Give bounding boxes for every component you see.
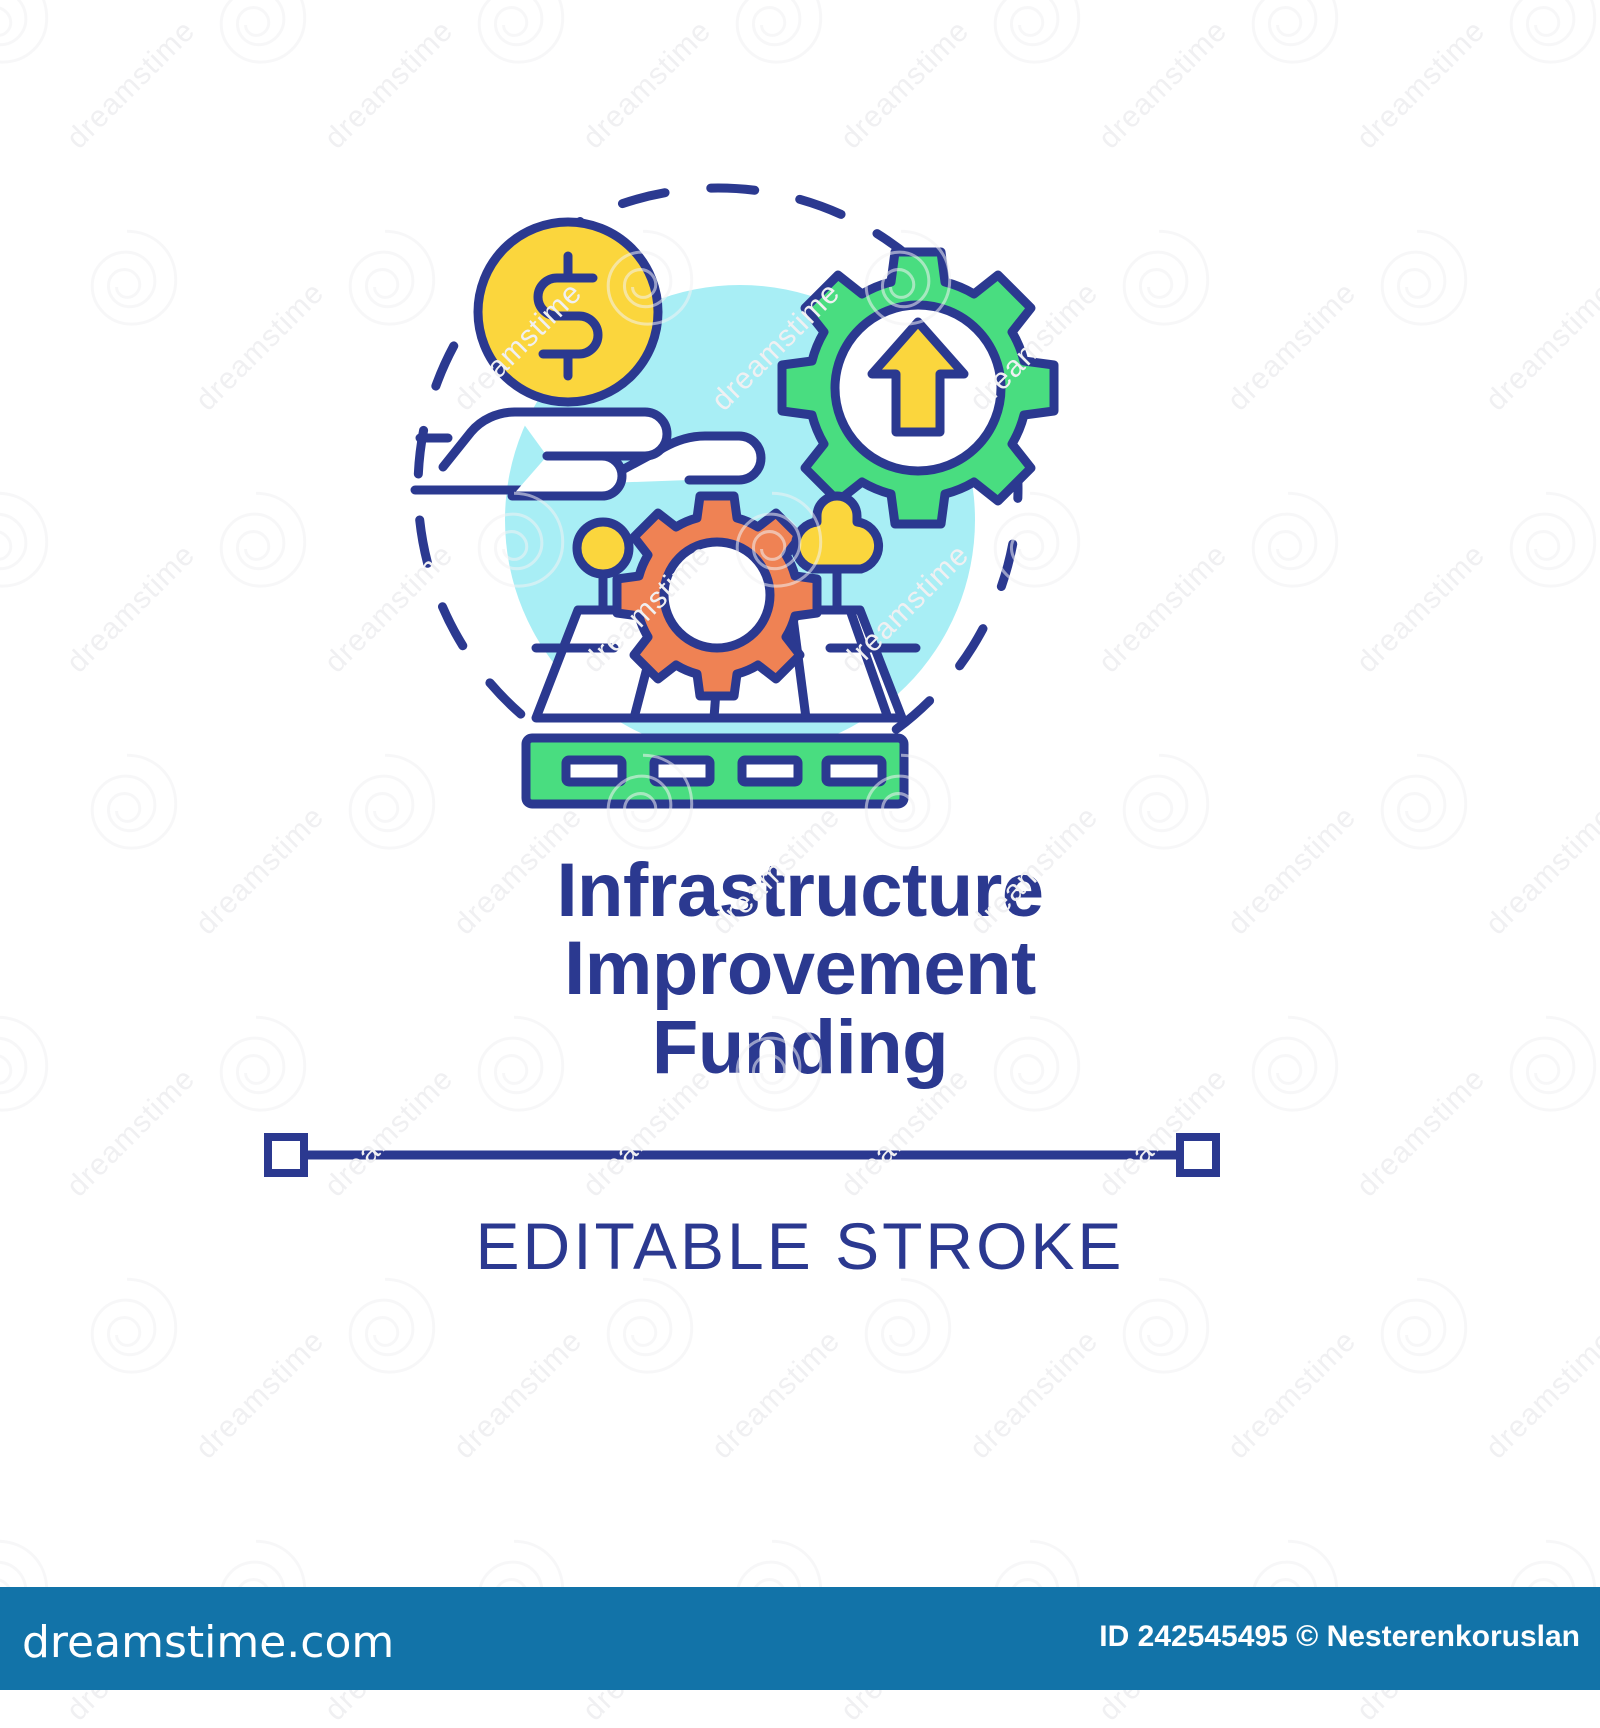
title-line-1: Infrastructure [0,852,1600,930]
footer-bar: dreamstime.com ID 242545495 © Nesterenko… [0,1587,1600,1690]
page-title: Infrastructure Improvement Funding [0,852,1600,1087]
image-credit: ID 242545495 © Nesterenkoruslan [1099,1620,1580,1654]
title-line-2: Improvement [0,930,1600,1008]
dreamstime-logo: dreamstime.com [22,1613,394,1665]
icon-artwork [400,170,1080,820]
title-line-3: Funding [0,1009,1600,1087]
stroke-handle-left [268,1137,304,1173]
concept-illustration: Infrastructure Improvement Funding EDITA… [0,0,1600,1560]
editable-stroke-indicator [262,1128,1222,1182]
editable-stroke-label: EDITABLE STROKE [0,1208,1600,1284]
orange-gear-icon [617,496,817,696]
brand-name: dreamstime.com [22,1621,394,1665]
green-bridge-icon [526,738,904,804]
stroke-handle-right [1180,1137,1216,1173]
